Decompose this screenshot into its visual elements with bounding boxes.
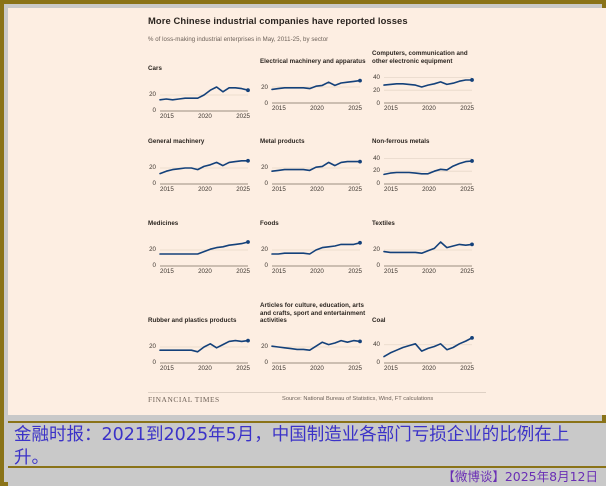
panel-title: Cars: [148, 65, 254, 73]
x-tick-label: 2020: [310, 186, 324, 193]
chart-panel: Rubber and plastics products020201520202…: [142, 317, 254, 373]
x-tick-label: 2025: [460, 365, 474, 372]
panel-plot: 020201520202025: [254, 67, 366, 113]
panel-plot: 02040201520202025: [366, 67, 478, 113]
x-tick-label: 2015: [272, 365, 286, 372]
y-tick-label: 20: [254, 164, 268, 171]
x-axis-labels: 201520202025: [384, 268, 474, 275]
panel-plot: 020201520202025: [254, 327, 366, 373]
page-title: More Chinese industrial companies have r…: [148, 15, 488, 26]
x-tick-label: 2015: [272, 268, 286, 275]
x-tick-label: 2025: [236, 268, 250, 275]
y-tick-label: 40: [366, 341, 380, 348]
x-axis-labels: 201520202025: [272, 105, 362, 112]
chart-panel: Textiles020201520202025: [366, 220, 478, 276]
panel-plot: 020201520202025: [142, 75, 254, 121]
y-tick-label: 20: [142, 164, 156, 171]
y-tick-label: 20: [366, 167, 380, 174]
x-axis-labels: 201520202025: [384, 186, 474, 193]
ft-logo: FINANCIAL TIMES: [148, 395, 220, 404]
y-tick-label: 0: [142, 359, 156, 366]
y-tick-label: 40: [366, 74, 380, 81]
chart-panel: Articles for culture, education, arts an…: [254, 302, 366, 373]
y-tick-label: 20: [142, 91, 156, 98]
panel-plot: 040201520202025: [366, 327, 478, 373]
y-tick-label: 0: [366, 359, 380, 366]
panel-plot: 020201520202025: [142, 148, 254, 194]
x-tick-label: 2025: [348, 365, 362, 372]
x-tick-label: 2015: [160, 365, 174, 372]
x-tick-label: 2020: [198, 113, 212, 120]
x-tick-label: 2015: [160, 268, 174, 275]
x-tick-label: 2015: [384, 365, 398, 372]
panel-plot: 020201520202025: [142, 230, 254, 276]
ft-chart-card: More Chinese industrial companies have r…: [8, 8, 606, 415]
x-tick-label: 2020: [422, 365, 436, 372]
y-tick-label: 0: [366, 262, 380, 269]
x-tick-label: 2020: [198, 268, 212, 275]
panel-title: Medicines: [148, 220, 254, 228]
panel-title: Textiles: [372, 220, 478, 228]
x-axis-labels: 201520202025: [272, 268, 362, 275]
screenshot-frame: More Chinese industrial companies have r…: [0, 0, 606, 486]
panel-title: Computers, communication and other elect…: [372, 50, 478, 65]
chart-footer: FINANCIAL TIMES Source: National Bureau …: [142, 395, 492, 407]
panel-title: Rubber and plastics products: [148, 317, 254, 325]
panel-title: Non-ferrous metals: [372, 138, 478, 146]
chart-panel: Metal products020201520202025: [254, 138, 366, 194]
x-tick-label: 2020: [310, 268, 324, 275]
x-tick-label: 2025: [236, 365, 250, 372]
x-tick-label: 2015: [384, 268, 398, 275]
y-tick-label: 20: [366, 87, 380, 94]
x-axis-labels: 201520202025: [160, 186, 250, 193]
panel-title: General machinery: [148, 138, 254, 146]
x-tick-label: 2025: [460, 186, 474, 193]
x-tick-label: 2015: [384, 186, 398, 193]
x-axis-labels: 201520202025: [160, 365, 250, 372]
panel-title: Articles for culture, education, arts an…: [260, 302, 366, 325]
x-tick-label: 2025: [236, 113, 250, 120]
chart-subtitle: % of loss-making industrial enterprises …: [148, 36, 488, 43]
source-note: Source: National Bureau of Statistics, W…: [282, 396, 433, 402]
panel-title: Foods: [260, 220, 366, 228]
panel-plot: 020201520202025: [254, 230, 366, 276]
panel-plot: 020201520202025: [254, 148, 366, 194]
x-axis-labels: 201520202025: [160, 113, 250, 120]
caption-footer: 【微博谈】2025年8月12日: [8, 468, 606, 486]
x-tick-label: 2020: [422, 268, 436, 275]
y-tick-label: 0: [142, 262, 156, 269]
x-tick-label: 2020: [422, 105, 436, 112]
ft-chart-inner: More Chinese industrial companies have r…: [142, 8, 492, 415]
x-tick-label: 2025: [460, 268, 474, 275]
panel-title: Coal: [372, 317, 478, 325]
y-tick-label: 20: [254, 246, 268, 253]
x-tick-label: 2025: [348, 268, 362, 275]
y-tick-label: 0: [366, 180, 380, 187]
panel-title: Metal products: [260, 138, 366, 146]
x-axis-labels: 201520202025: [384, 105, 474, 112]
x-tick-label: 2020: [198, 365, 212, 372]
x-tick-label: 2020: [310, 365, 324, 372]
y-tick-label: 20: [366, 246, 380, 253]
chart-panel: Computers, communication and other elect…: [366, 50, 478, 113]
x-tick-label: 2020: [422, 186, 436, 193]
y-tick-label: 20: [142, 246, 156, 253]
x-tick-label: 2020: [310, 105, 324, 112]
x-tick-label: 2015: [272, 186, 286, 193]
x-axis-labels: 201520202025: [160, 268, 250, 275]
chart-panel: Cars020201520202025: [142, 65, 254, 121]
chart-panel: Coal040201520202025: [366, 317, 478, 373]
small-multiples-grid: Cars020201520202025Electrical machinery …: [142, 50, 492, 395]
caption-text: 金融时报：2021到2025年5月，中国制造业各部门亏损企业的比例在上升。: [8, 421, 606, 468]
y-tick-label: 20: [254, 343, 268, 350]
panel-plot: 020201520202025: [142, 327, 254, 373]
footer-divider: [148, 392, 486, 393]
y-tick-label: 0: [254, 359, 268, 366]
panel-plot: 02040201520202025: [366, 148, 478, 194]
y-tick-label: 0: [366, 100, 380, 107]
y-tick-label: 0: [254, 262, 268, 269]
x-tick-label: 2020: [198, 186, 212, 193]
chart-panel: Electrical machinery and apparatus020201…: [254, 58, 366, 114]
y-tick-label: 20: [142, 343, 156, 350]
panel-title: Electrical machinery and apparatus: [260, 58, 366, 66]
chart-panel: Medicines020201520202025: [142, 220, 254, 276]
x-tick-label: 2025: [236, 186, 250, 193]
y-tick-label: 0: [142, 107, 156, 114]
x-tick-label: 2015: [384, 105, 398, 112]
x-axis-labels: 201520202025: [384, 365, 474, 372]
y-tick-label: 0: [142, 180, 156, 187]
x-tick-label: 2025: [460, 105, 474, 112]
y-tick-label: 0: [254, 180, 268, 187]
x-axis-labels: 201520202025: [272, 186, 362, 193]
x-tick-label: 2015: [160, 186, 174, 193]
chart-panel: Foods020201520202025: [254, 220, 366, 276]
x-tick-label: 2025: [348, 186, 362, 193]
y-tick-label: 40: [366, 155, 380, 162]
x-tick-label: 2025: [348, 105, 362, 112]
y-tick-label: 20: [254, 84, 268, 91]
y-tick-label: 0: [254, 100, 268, 107]
x-tick-label: 2015: [160, 113, 174, 120]
x-tick-label: 2015: [272, 105, 286, 112]
panel-plot: 020201520202025: [366, 230, 478, 276]
chart-panel: General machinery020201520202025: [142, 138, 254, 194]
x-axis-labels: 201520202025: [272, 365, 362, 372]
chart-panel: Non-ferrous metals02040201520202025: [366, 138, 478, 194]
